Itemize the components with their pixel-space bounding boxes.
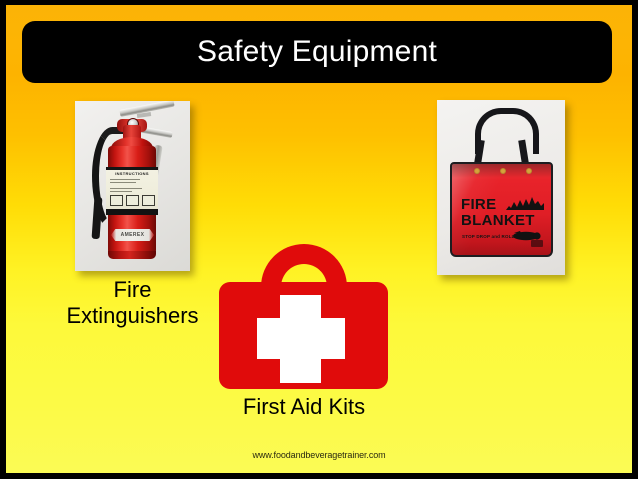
blanket-grommet-icon bbox=[526, 168, 532, 174]
blanket-text-fire: FIRE bbox=[461, 197, 496, 212]
extinguisher-brand-plate: AMEREX bbox=[111, 229, 154, 241]
footer-url: www.foodandbeveragetrainer.com bbox=[0, 450, 638, 460]
caption-fire-extinguishers: Fire Extinguishers bbox=[28, 277, 237, 329]
extinguisher-base-icon bbox=[108, 251, 156, 259]
extinguisher-label-title: INSTRUCTIONS bbox=[106, 171, 158, 176]
blanket-text-blanket: BLANKET bbox=[461, 213, 535, 228]
extinguisher-pin-icon bbox=[137, 112, 151, 118]
extinguisher-band-icon bbox=[106, 209, 158, 215]
slide: Safety Equipment INSTRUCTIONS AMEREX bbox=[0, 0, 638, 479]
blanket-bag: FIRE BLANKET STOP DROP and ROLL bbox=[450, 162, 553, 257]
extinguisher-label-pictograms bbox=[110, 195, 155, 206]
fire-blanket-photo: FIRE BLANKET STOP DROP and ROLL bbox=[437, 100, 565, 275]
extinguisher-brand-text: AMEREX bbox=[111, 229, 154, 241]
medical-cross-icon bbox=[257, 318, 345, 359]
blanket-grommet-icon bbox=[500, 168, 506, 174]
caption-line-1: Fire bbox=[28, 277, 237, 303]
blanket-text-stop-drop-roll: STOP DROP and ROLL bbox=[462, 234, 515, 239]
blanket-handle-icon bbox=[475, 108, 539, 154]
page-title: Safety Equipment bbox=[197, 37, 437, 67]
extinguisher-instruction-label: INSTRUCTIONS bbox=[106, 167, 158, 209]
extinguisher-hose-lower-icon bbox=[92, 197, 103, 239]
caption-first-aid-kits: First Aid Kits bbox=[200, 394, 408, 420]
fire-extinguisher-photo: INSTRUCTIONS AMEREX bbox=[75, 101, 190, 271]
blanket-small-logo bbox=[531, 240, 543, 247]
title-bar: Safety Equipment bbox=[22, 21, 612, 83]
caption-line-2: Extinguishers bbox=[28, 303, 237, 329]
blanket-grommet-icon bbox=[474, 168, 480, 174]
first-aid-kit-illustration bbox=[219, 244, 388, 389]
flame-icon bbox=[506, 197, 544, 210]
